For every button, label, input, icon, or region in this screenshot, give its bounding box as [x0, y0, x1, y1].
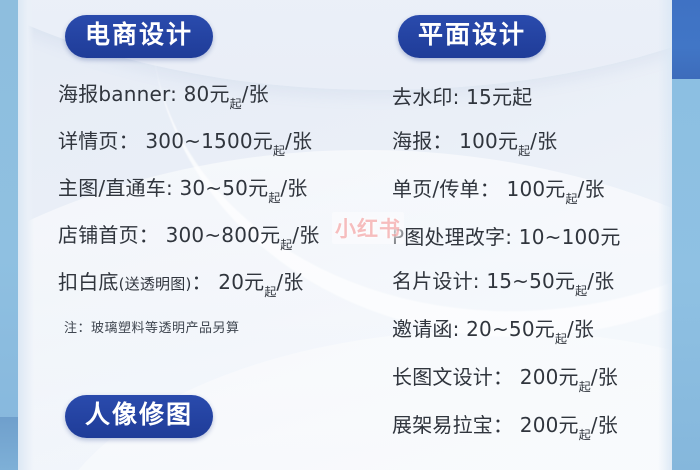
price-item: 海报： 100元起/张	[392, 131, 621, 155]
price-item-qualifier: 起	[566, 192, 578, 206]
price-item-amount: 10~100元	[519, 225, 621, 249]
price-item-qualifier: 起	[518, 144, 530, 158]
price-item: 店铺首页： 300~800元起/张	[58, 225, 319, 249]
price-item-qualifier: 起	[264, 285, 276, 299]
price-item: 单页/传单： 100元起/张	[392, 179, 621, 203]
price-item: P图处理改字: 10~100元	[392, 227, 621, 247]
price-item-qualifier: 起	[579, 428, 591, 442]
price-item-amount: 100元	[459, 129, 518, 153]
price-item-label: 名片设计:	[392, 269, 480, 293]
section-title-ecommerce-design: 电商设计	[65, 15, 213, 58]
price-item-label: 单页/传单：	[392, 177, 500, 201]
price-item-label: 长图文设计：	[392, 365, 513, 389]
price-item-label-tail: ：	[192, 270, 212, 294]
price-item-unit: /张	[567, 317, 594, 341]
price-list-ecommerce: 海报banner: 80元起/张 详情页： 300~1500元起/张 主图/直通…	[58, 84, 319, 296]
price-item: 扣白底(送透明图)： 20元起/张	[58, 272, 319, 296]
price-item-label: 海报banner:	[58, 82, 177, 106]
price-item-qualifier: 起	[575, 284, 587, 298]
left-edge-band	[0, 0, 18, 470]
price-item-amount: 30~50元	[179, 176, 268, 200]
price-item-label: 邀请函:	[392, 317, 460, 341]
price-item-amount: 200元	[520, 413, 579, 437]
section-note-ecommerce: 注：玻璃塑料等透明产品另算	[64, 317, 240, 336]
price-item-qualifier: 起	[273, 144, 285, 158]
price-item-unit: /张	[276, 270, 303, 294]
right-edge-fade	[658, 0, 672, 470]
price-item-amount: 80元	[184, 82, 230, 106]
price-item-label: 去水印:	[392, 85, 460, 109]
price-item-unit: /张	[587, 269, 614, 293]
price-item-qualifier: 起	[230, 97, 242, 111]
price-item-label: 店铺首页：	[58, 223, 159, 247]
left-edge-fade	[18, 0, 34, 470]
price-item: 主图/直通车: 30~50元起/张	[58, 178, 319, 202]
price-item-unit: /张	[530, 129, 557, 153]
price-item-label: 详情页：	[58, 129, 139, 153]
price-item-unit: /张	[285, 129, 312, 153]
price-item-label: 扣白底	[58, 270, 119, 294]
pricing-poster: 电商设计 海报banner: 80元起/张 详情页： 300~1500元起/张 …	[0, 0, 700, 470]
price-item-amount: 300~1500元	[145, 129, 273, 153]
price-item-unit: /张	[292, 223, 319, 247]
price-item-qualifier: 起	[268, 191, 280, 205]
right-edge-band-bottom	[672, 79, 700, 470]
price-item-unit: /张	[280, 176, 307, 200]
price-item: 展架易拉宝： 200元起/张	[392, 415, 621, 439]
section-title-portrait-retouch: 人像修图	[65, 395, 213, 438]
price-item: 名片设计: 15~50元起/张	[392, 271, 621, 295]
price-item-label-note: (送透明图)	[119, 275, 192, 293]
price-item-amount: 100元	[507, 177, 566, 201]
price-item-unit: /张	[591, 365, 618, 389]
right-edge-band-top	[672, 0, 700, 79]
price-item-label: 展架易拉宝：	[392, 413, 513, 437]
price-item-qualifier: 起	[579, 380, 591, 394]
price-item-amount: 15~50元	[486, 269, 575, 293]
price-list-graphic: 去水印: 15元起 海报： 100元起/张 单页/传单： 100元起/张 P图处…	[392, 87, 621, 439]
left-edge-band-notch	[0, 417, 18, 470]
price-item-unit: /张	[591, 413, 618, 437]
section-title-graphic-design: 平面设计	[398, 15, 546, 58]
price-item-label: 海报：	[392, 129, 453, 153]
price-item: 详情页： 300~1500元起/张	[58, 131, 319, 155]
price-item: 长图文设计： 200元起/张	[392, 367, 621, 391]
price-item-qualifier: 起	[280, 238, 292, 252]
price-item: 邀请函: 20~50元起/张	[392, 319, 621, 343]
price-item-amount: 20~50元	[466, 317, 555, 341]
price-item-unit: /张	[578, 177, 605, 201]
price-item-label: 主图/直通车:	[58, 176, 173, 200]
price-item-amount: 20元	[218, 270, 264, 294]
price-item: 海报banner: 80元起/张	[58, 84, 319, 108]
price-item-unit: /张	[242, 82, 269, 106]
price-item-amount: 15元起	[466, 85, 532, 109]
price-item: 去水印: 15元起	[392, 87, 621, 107]
price-item-qualifier: 起	[555, 332, 567, 346]
price-item-amount: 300~800元	[166, 223, 281, 247]
price-item-amount: 200元	[520, 365, 579, 389]
price-item-label: P图处理改字:	[392, 225, 512, 249]
